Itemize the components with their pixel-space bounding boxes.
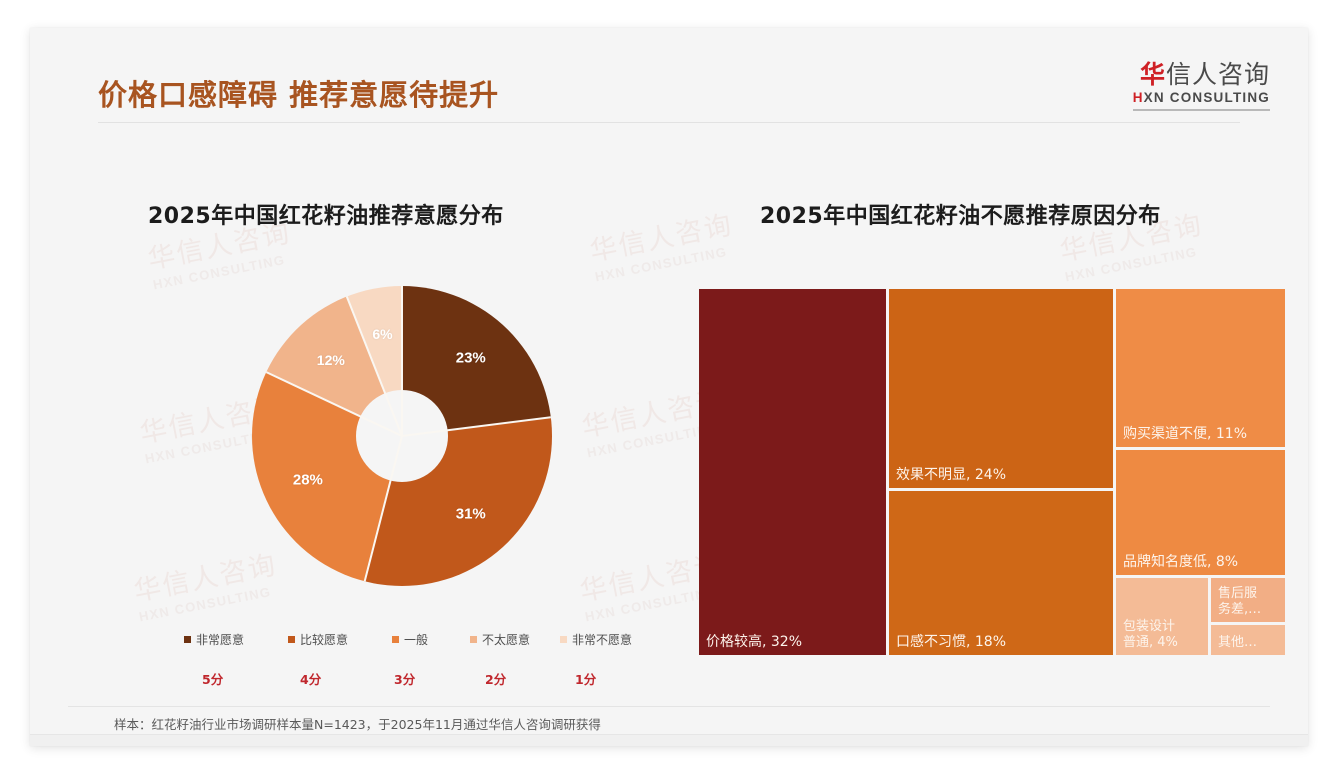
treemap-cell[interactable]: 口感不习惯, 18% [889,491,1113,655]
watermark-en: HXN CONSULTING [138,582,283,624]
source-footnote: 样本：红花籽油行业市场调研样本量N=1423，于2025年11月通过华信人咨询调… [114,714,601,733]
logo-chinese-rest: 信人咨询 [1166,60,1270,89]
treemap-cell[interactable]: 包装设计 普通, 4% [1116,578,1208,655]
treemap-cell-label: 售后服 务差,… [1218,586,1261,618]
slide-header: 价格口感障碍 推荐意愿待提升 华信人咨询 HXN CONSULTING [30,28,1308,122]
treemap-cell-label: 口感不习惯, 18% [896,634,1006,651]
header-divider [98,122,1240,123]
score-label-4: 1分 [575,669,596,688]
left-chart-title: 2025年中国红花籽油推荐意愿分布 [148,198,504,230]
logo-chinese: 华信人咨询 [1133,62,1270,88]
donut-slice-label: 12% [317,352,345,368]
donut-slice-label: 6% [372,326,392,342]
legend-label: 非常不愿意 [572,631,632,648]
watermark-cn: 华信人咨询 [586,203,736,269]
score-axis-labels: 5分4分3分2分1分 [170,669,670,687]
watermark-en: HXN CONSULTING [1064,242,1209,284]
legend-item-0[interactable]: 非常愿意 [184,631,244,648]
legend-item-4[interactable]: 非常不愿意 [560,631,632,648]
watermark: 华信人咨询 HXN CONSULTING [586,203,739,285]
treemap-cell[interactable]: 品牌知名度低, 8% [1116,450,1285,575]
treemap-cell[interactable]: 其他… [1211,625,1285,655]
treemap-cell-label: 品牌知名度低, 8% [1123,554,1238,571]
legend-item-1[interactable]: 比较愿意 [288,631,348,648]
slide-canvas: 华信人咨询 HXN CONSULTING 华信人咨询 HXN CONSULTIN… [30,28,1308,746]
legend-label: 比较愿意 [300,631,348,648]
treemap-cell[interactable]: 效果不明显, 24% [889,289,1113,488]
score-label-3: 2分 [485,669,506,688]
logo-english-rest: XN CONSULTING [1144,90,1270,105]
treemap-cell-label: 包装设计 普通, 4% [1123,619,1178,651]
footnote-divider [68,706,1270,707]
legend-label: 不太愿意 [482,631,530,648]
legend-swatch-icon [184,636,191,643]
legend-swatch-icon [392,636,399,643]
page-title: 价格口感障碍 推荐意愿待提升 [98,72,499,114]
reasons-treemap-chart: 价格较高, 32%效果不明显, 24%口感不习惯, 18%购买渠道不便, 11%… [699,289,1285,655]
logo-chinese-accent: 华 [1140,60,1166,89]
treemap-cell-label: 购买渠道不便, 11% [1123,426,1247,443]
treemap-cell[interactable]: 售后服 务差,… [1211,578,1285,622]
brand-logo: 华信人咨询 HXN CONSULTING [1133,62,1270,111]
logo-english: HXN CONSULTING [1133,90,1270,105]
donut-slice-label: 31% [456,506,486,523]
treemap-cell[interactable]: 价格较高, 32% [699,289,886,655]
treemap-cell-label: 效果不明显, 24% [896,467,1006,484]
logo-english-accent: H [1133,90,1144,105]
treemap-cell[interactable]: 购买渠道不便, 11% [1116,289,1285,447]
donut-slice-separator [401,286,403,436]
treemap-cell-label: 其他… [1218,635,1257,651]
legend-label: 非常愿意 [196,631,244,648]
legend-item-3[interactable]: 不太愿意 [470,631,530,648]
right-chart-title: 2025年中国红花籽油不愿推荐原因分布 [760,198,1161,230]
donut-legend: 非常愿意比较愿意一般不太愿意非常不愿意 [170,631,670,649]
legend-label: 一般 [404,631,428,648]
recommendation-donut-chart: 23%31%28%12%6% [252,286,552,586]
logo-underline [1133,109,1270,111]
treemap-cell-label: 价格较高, 32% [706,634,802,651]
legend-swatch-icon [288,636,295,643]
watermark-en: HXN CONSULTING [594,242,739,284]
donut-slice-label: 23% [456,349,486,366]
legend-swatch-icon [470,636,477,643]
slide-footer: ©2026.1 HXR华信人咨询 www.hxrcon.com [30,734,1308,746]
donut-slice-label: 28% [293,472,323,489]
score-label-0: 5分 [202,669,223,688]
legend-item-2[interactable]: 一般 [392,631,428,648]
legend-swatch-icon [560,636,567,643]
score-label-1: 4分 [300,669,321,688]
score-label-2: 3分 [394,669,415,688]
